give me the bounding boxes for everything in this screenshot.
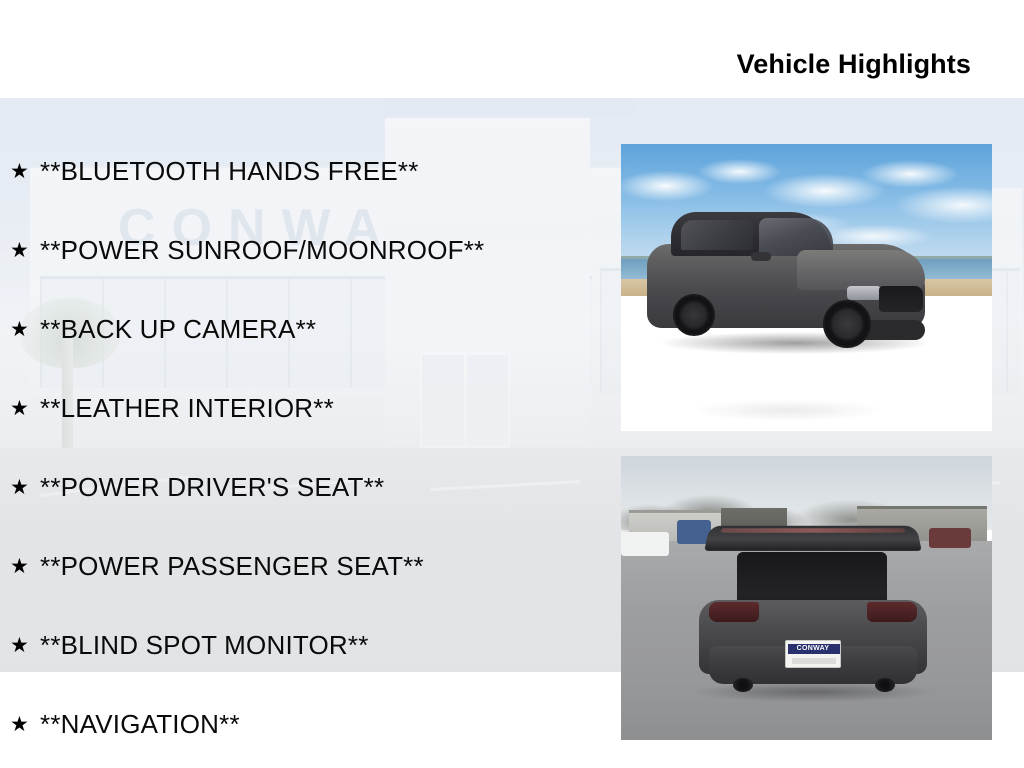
car-hood — [797, 250, 925, 290]
dealer-license-plate: CONWAY — [785, 640, 841, 668]
car-trunk-stripe — [721, 528, 906, 532]
car-front-wheel — [823, 300, 871, 348]
highlight-label: **POWER DRIVER'S SEAT** — [40, 474, 384, 500]
page-title: Vehicle Highlights — [737, 50, 971, 80]
vehicle-photo-front-quarter[interactable] — [621, 144, 992, 431]
list-item: ★ **LEATHER INTERIOR** — [0, 388, 334, 428]
charger-rear-view: CONWAY — [693, 496, 933, 696]
list-item: ★ **NAVIGATION** — [0, 704, 240, 744]
license-plate-text: CONWAY — [786, 644, 840, 654]
list-item: ★ **POWER PASSENGER SEAT** — [0, 546, 424, 586]
photo-white-truck — [621, 532, 669, 556]
star-bullet-icon: ★ — [10, 556, 40, 577]
highlight-label: **LEATHER INTERIOR** — [40, 395, 334, 421]
highlight-label: **NAVIGATION** — [40, 711, 240, 737]
car-taillight-left — [709, 602, 759, 622]
license-plate-lower-band — [792, 658, 836, 664]
car-side-mirror — [751, 252, 771, 261]
list-item: ★ **POWER DRIVER'S SEAT** — [0, 467, 384, 507]
showroom-entry-doors — [420, 353, 510, 448]
highlight-label: **BLIND SPOT MONITOR** — [40, 632, 369, 658]
car-shadow — [693, 682, 933, 702]
car-exhaust-right — [875, 678, 895, 692]
list-item: ★ **BLIND SPOT MONITOR** — [0, 625, 369, 665]
list-item: ★ **POWER SUNROOF/MOONROOF** — [0, 230, 484, 270]
parking-stall-line — [430, 480, 580, 491]
photo-red-truck — [929, 528, 971, 548]
highlight-label: **BLUETOOTH HANDS FREE** — [40, 158, 419, 184]
highlight-label: **POWER SUNROOF/MOONROOF** — [40, 237, 484, 263]
list-item: ★ **BLUETOOTH HANDS FREE** — [0, 151, 419, 191]
star-bullet-icon: ★ — [10, 319, 40, 340]
slide-header: Vehicle Highlights — [0, 0, 1024, 98]
star-bullet-icon: ★ — [10, 477, 40, 498]
highlight-label: **BACK UP CAMERA** — [40, 316, 316, 342]
star-bullet-icon: ★ — [10, 161, 40, 182]
star-bullet-icon: ★ — [10, 240, 40, 261]
star-bullet-icon: ★ — [10, 398, 40, 419]
highlight-label: **POWER PASSENGER SEAT** — [40, 553, 424, 579]
car-rear-wheel — [673, 294, 715, 336]
star-bullet-icon: ★ — [10, 635, 40, 656]
car-grille — [879, 286, 923, 312]
charger-front-quarter — [647, 208, 925, 358]
car-headlight — [847, 286, 881, 300]
car-exhaust-left — [733, 678, 753, 692]
star-bullet-icon: ★ — [10, 714, 40, 735]
list-item: ★ **BACK UP CAMERA** — [0, 309, 316, 349]
vehicle-photo-rear-trunk-open[interactable]: CONWAY — [621, 456, 992, 740]
vehicle-highlights-slide: CONWAY Vehicle Highlights — [0, 0, 1024, 768]
car-side-window — [681, 220, 753, 250]
car-taillight-right — [867, 602, 917, 622]
